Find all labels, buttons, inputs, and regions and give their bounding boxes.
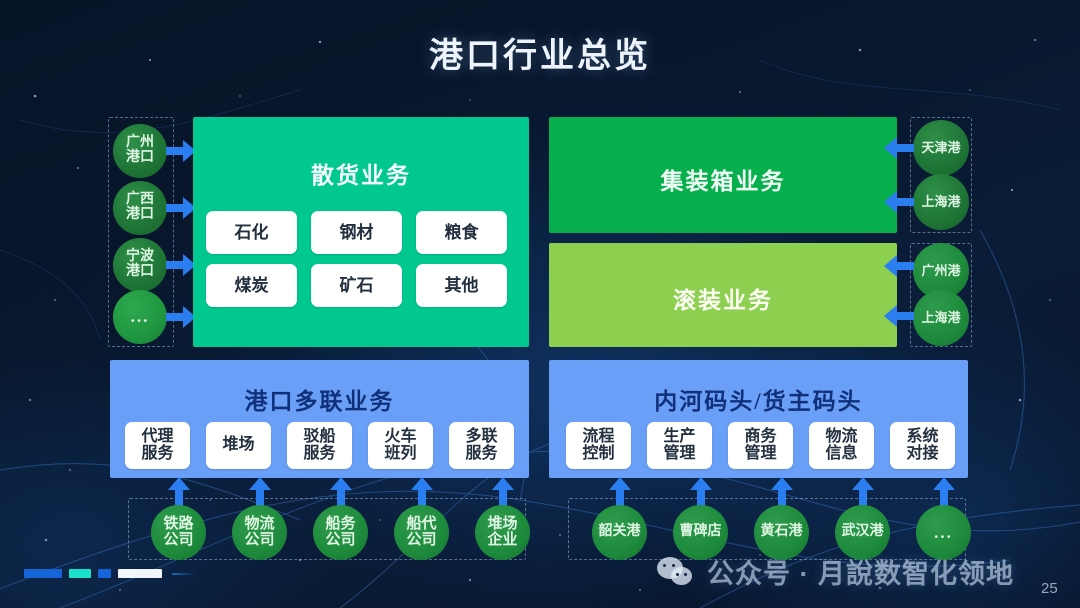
arrow-multimodal-partner-5 bbox=[492, 477, 514, 507]
multimodal-chip-label-5: 多联 服务 bbox=[465, 429, 497, 463]
inland-chip-label-4: 物流 信息 bbox=[825, 429, 857, 463]
left-port-label-1: 广州 港口 bbox=[126, 136, 154, 165]
arrow-inland-partner-1 bbox=[609, 477, 631, 507]
arrow-multimodal-partner-3 bbox=[330, 477, 352, 507]
bulk-chip-6[interactable]: 其他 bbox=[416, 264, 507, 307]
progress-segment-1[interactable] bbox=[24, 569, 62, 578]
multimodal-chip-label-1: 代理 服务 bbox=[141, 429, 173, 463]
bulk-chip-4[interactable]: 煤炭 bbox=[206, 264, 297, 307]
bulk-chip-label-4: 煤炭 bbox=[235, 277, 269, 295]
multimodal-business-title: 港口多联业务 bbox=[110, 382, 529, 416]
bulk-chip-label-5: 矿石 bbox=[340, 277, 374, 295]
slide-progress-bar[interactable] bbox=[24, 569, 196, 578]
inland-partner-label-2: 曹碑店 bbox=[680, 525, 722, 540]
inland-chip-label-1: 流程 控制 bbox=[582, 429, 614, 463]
multimodal-chip-5[interactable]: 多联 服务 bbox=[449, 422, 514, 469]
bulk-chip-2[interactable]: 钢材 bbox=[311, 211, 402, 254]
multimodal-partner-label-2: 物流 公司 bbox=[244, 517, 274, 549]
progress-segment-4[interactable] bbox=[118, 569, 162, 578]
multimodal-chip-label-3: 驳船 服务 bbox=[303, 429, 335, 463]
bulk-business-title: 散货业务 bbox=[193, 156, 529, 190]
left-port-circle-1[interactable]: 广州 港口 bbox=[113, 124, 167, 178]
container-business-title: 集装箱业务 bbox=[549, 162, 897, 196]
arrow-left-port-3 bbox=[166, 254, 196, 276]
multimodal-partner-label-5: 堆场 企业 bbox=[487, 517, 517, 549]
progress-segment-2[interactable] bbox=[69, 569, 91, 578]
inland-chip-2[interactable]: 生产 管理 bbox=[647, 422, 712, 469]
arrow-roro-port-1 bbox=[884, 255, 914, 277]
arrow-left-port-2 bbox=[166, 197, 196, 219]
left-port-label-2: 广西 港口 bbox=[126, 193, 154, 222]
roro-port-label-1: 广州港 bbox=[921, 264, 960, 278]
progress-segment-3[interactable] bbox=[98, 569, 111, 578]
arrow-inland-partner-3 bbox=[771, 477, 793, 507]
inland-partner-label-1: 韶关港 bbox=[599, 525, 641, 540]
multimodal-partner-circle-5[interactable]: 堆场 企业 bbox=[475, 505, 530, 560]
inland-partner-label-3: 黄石港 bbox=[761, 525, 803, 540]
inland-chip-3[interactable]: 商务 管理 bbox=[728, 422, 793, 469]
left-port-circle-4[interactable]: ... bbox=[113, 290, 167, 344]
roro-business-title: 滚装业务 bbox=[549, 281, 897, 315]
arrow-multimodal-partner-2 bbox=[249, 477, 271, 507]
inland-partner-label-4: 武汉港 bbox=[842, 525, 884, 540]
container-port-circle-1[interactable]: 天津港 bbox=[913, 120, 969, 176]
inland-chip-1[interactable]: 流程 控制 bbox=[566, 422, 631, 469]
inland-chip-label-5: 系统 对接 bbox=[906, 429, 938, 463]
watermark-text: 公众号 · 月說数智化领地 bbox=[707, 552, 1014, 591]
inland-chip-label-2: 生产 管理 bbox=[663, 429, 695, 463]
multimodal-chip-2[interactable]: 堆场 bbox=[206, 422, 271, 469]
arrow-inland-partner-5 bbox=[933, 477, 955, 507]
container-port-circle-2[interactable]: 上海港 bbox=[913, 174, 969, 230]
inland-chip-4[interactable]: 物流 信息 bbox=[809, 422, 874, 469]
bulk-chip-1[interactable]: 石化 bbox=[206, 211, 297, 254]
left-port-label-4: ... bbox=[131, 308, 150, 326]
inland-chip-label-3: 商务 管理 bbox=[744, 429, 776, 463]
container-business-block[interactable]: 集装箱业务 bbox=[549, 117, 897, 233]
inland-partner-label-5: ... bbox=[934, 524, 953, 542]
roro-business-block[interactable]: 滚装业务 bbox=[549, 243, 897, 347]
arrow-inland-partner-4 bbox=[852, 477, 874, 507]
watermark: 公众号 · 月說数智化领地 bbox=[657, 552, 1014, 591]
multimodal-chip-label-2: 堆场 bbox=[222, 437, 254, 454]
wechat-icon bbox=[657, 557, 697, 587]
progress-track-rest bbox=[172, 573, 196, 575]
left-port-circle-2[interactable]: 广西 港口 bbox=[113, 181, 167, 235]
arrow-roro-port-2 bbox=[884, 305, 914, 327]
multimodal-partner-label-3: 船务 公司 bbox=[325, 517, 355, 549]
arrow-inland-partner-2 bbox=[690, 477, 712, 507]
multimodal-partner-circle-1[interactable]: 铁路 公司 bbox=[151, 505, 206, 560]
page-number: 25 bbox=[1041, 580, 1058, 597]
multimodal-partner-label-4: 船代 公司 bbox=[406, 517, 436, 549]
roro-port-circle-2[interactable]: 上海港 bbox=[913, 290, 969, 346]
inland-chip-5[interactable]: 系统 对接 bbox=[890, 422, 955, 469]
bulk-chip-3[interactable]: 粮食 bbox=[416, 211, 507, 254]
container-port-label-2: 上海港 bbox=[921, 195, 960, 209]
multimodal-chip-3[interactable]: 驳船 服务 bbox=[287, 422, 352, 469]
multimodal-partner-circle-3[interactable]: 船务 公司 bbox=[313, 505, 368, 560]
arrow-container-port-2 bbox=[884, 191, 914, 213]
inland-terminal-title: 内河码头/货主码头 bbox=[549, 382, 968, 416]
bulk-chip-label-3: 粮食 bbox=[445, 224, 479, 242]
arrow-container-port-1 bbox=[884, 137, 914, 159]
bulk-chip-label-6: 其他 bbox=[445, 277, 479, 295]
page-title: 港口行业总览 bbox=[0, 28, 1080, 77]
roro-port-label-2: 上海港 bbox=[921, 311, 960, 325]
left-port-circle-3[interactable]: 宁波 港口 bbox=[113, 238, 167, 292]
multimodal-chip-4[interactable]: 火车 班列 bbox=[368, 422, 433, 469]
arrow-left-port-4 bbox=[166, 306, 196, 328]
left-port-label-3: 宁波 港口 bbox=[126, 250, 154, 279]
multimodal-partner-label-1: 铁路 公司 bbox=[163, 517, 193, 549]
bulk-chip-5[interactable]: 矿石 bbox=[311, 264, 402, 307]
bulk-chip-label-2: 钢材 bbox=[340, 224, 374, 242]
multimodal-chip-label-4: 火车 班列 bbox=[384, 429, 416, 463]
multimodal-partner-circle-2[interactable]: 物流 公司 bbox=[232, 505, 287, 560]
arrow-multimodal-partner-4 bbox=[411, 477, 433, 507]
container-port-label-1: 天津港 bbox=[921, 141, 960, 155]
multimodal-chip-1[interactable]: 代理 服务 bbox=[125, 422, 190, 469]
arrow-multimodal-partner-1 bbox=[168, 477, 190, 507]
inland-partner-circle-1[interactable]: 韶关港 bbox=[592, 505, 647, 560]
bulk-chip-label-1: 石化 bbox=[235, 224, 269, 242]
multimodal-partner-circle-4[interactable]: 船代 公司 bbox=[394, 505, 449, 560]
arrow-left-port-1 bbox=[166, 140, 196, 162]
